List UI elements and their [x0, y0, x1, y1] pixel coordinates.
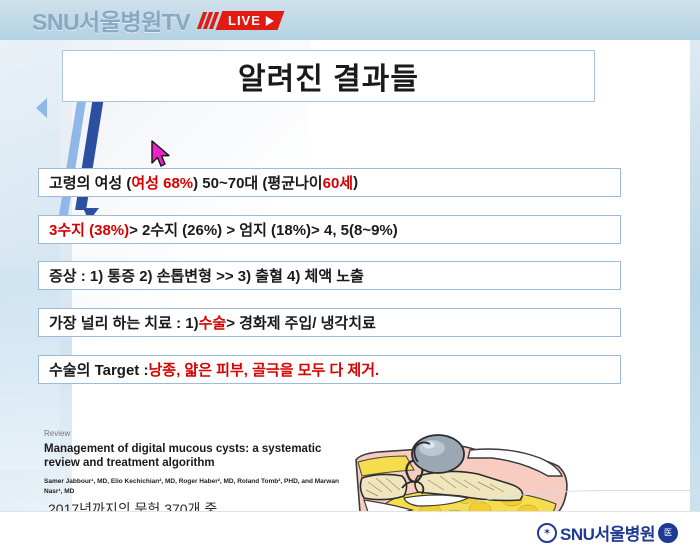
- row-digit-distribution-segment-0: 3수지 (38%): [49, 219, 129, 240]
- hospital-seal-icon: 医: [658, 523, 678, 543]
- live-slashes-icon: [200, 12, 216, 29]
- row-treatment-segment-0: 가장 널리 하는 치료 : 1): [49, 312, 199, 333]
- row-demographics-segment-3: 60세: [323, 172, 354, 193]
- footer-bar: ✶ SNU서울병원 医: [0, 511, 700, 551]
- live-indicator: LIVE: [200, 11, 281, 30]
- slide-title: 알려진 결과들: [238, 54, 419, 98]
- live-badge-label: LIVE: [228, 13, 261, 28]
- broadcast-screen: SNU서울병원TV LIVE 알려진 결과들 고령의 여성 (여성 68%) 5…: [0, 0, 700, 551]
- row-treatment-segment-2: > 경화제 주입/ 냉각치료: [226, 312, 376, 333]
- row-demographics-segment-1: 여성 68%: [131, 172, 193, 193]
- row-demographics-segment-4: ): [353, 174, 358, 191]
- row-symptoms-segment-0: 증상 : 1) 통증 2) 손톱변형 >> 3) 출혈 4) 체액 노출: [49, 265, 364, 286]
- row-surgery-target-segment-1: 낭종, 얇은 피부, 골극을 모두 다 제거.: [148, 359, 379, 380]
- channel-header-bar: SNU서울병원TV LIVE: [0, 0, 700, 40]
- paper-citation-block: Review Management of digital mucous cyst…: [44, 429, 344, 496]
- hospital-logo-text: SNU서울병원: [560, 520, 655, 545]
- slide-right-gradient-edge: [690, 40, 700, 537]
- channel-brand-title: SNU서울병원TV: [32, 3, 190, 37]
- hospital-crest-icon: ✶: [537, 523, 557, 543]
- hospital-logo: ✶ SNU서울병원 医: [537, 520, 678, 545]
- paper-kicker: Review: [44, 429, 344, 438]
- live-badge: LIVE: [216, 11, 285, 30]
- row-demographics-segment-2: ) 50~70대 (평균나이: [193, 172, 322, 193]
- content-row-surgery-target: 수술의 Target : 낭종, 얇은 피부, 골극을 모두 다 제거.: [38, 355, 621, 384]
- content-row-demographics: 고령의 여성 (여성 68%) 50~70대 (평균나이 60세): [38, 168, 621, 197]
- content-row-treatment: 가장 널리 하는 치료 : 1) 수술 > 경화제 주입/ 냉각치료: [38, 308, 621, 337]
- row-surgery-target-segment-0: 수술의 Target :: [49, 359, 148, 380]
- content-row-digit-distribution: 3수지 (38%) > 2수지 (26%) > 엄지 (18%)> 4, 5(8…: [38, 215, 621, 244]
- paper-authors: Samer Jabbour¹, MD, Elio Kechichian², MD…: [44, 477, 344, 497]
- row-digit-distribution-segment-1: > 2수지 (26%) > 엄지 (18%)> 4, 5(8~9%): [129, 219, 398, 240]
- paper-title: Management of digital mucous cysts: a sy…: [44, 442, 344, 471]
- play-triangle-icon: [266, 15, 274, 25]
- row-treatment-segment-1: 수술: [199, 312, 227, 333]
- decorative-arrow-left-icon: [36, 98, 47, 118]
- content-row-symptoms: 증상 : 1) 통증 2) 손톱변형 >> 3) 출혈 4) 체액 노출: [38, 261, 621, 290]
- slide-title-box: 알려진 결과들: [62, 50, 595, 102]
- presentation-slide: 알려진 결과들 고령의 여성 (여성 68%) 50~70대 (평균나이 60세…: [0, 40, 700, 537]
- row-demographics-segment-0: 고령의 여성 (: [49, 172, 131, 193]
